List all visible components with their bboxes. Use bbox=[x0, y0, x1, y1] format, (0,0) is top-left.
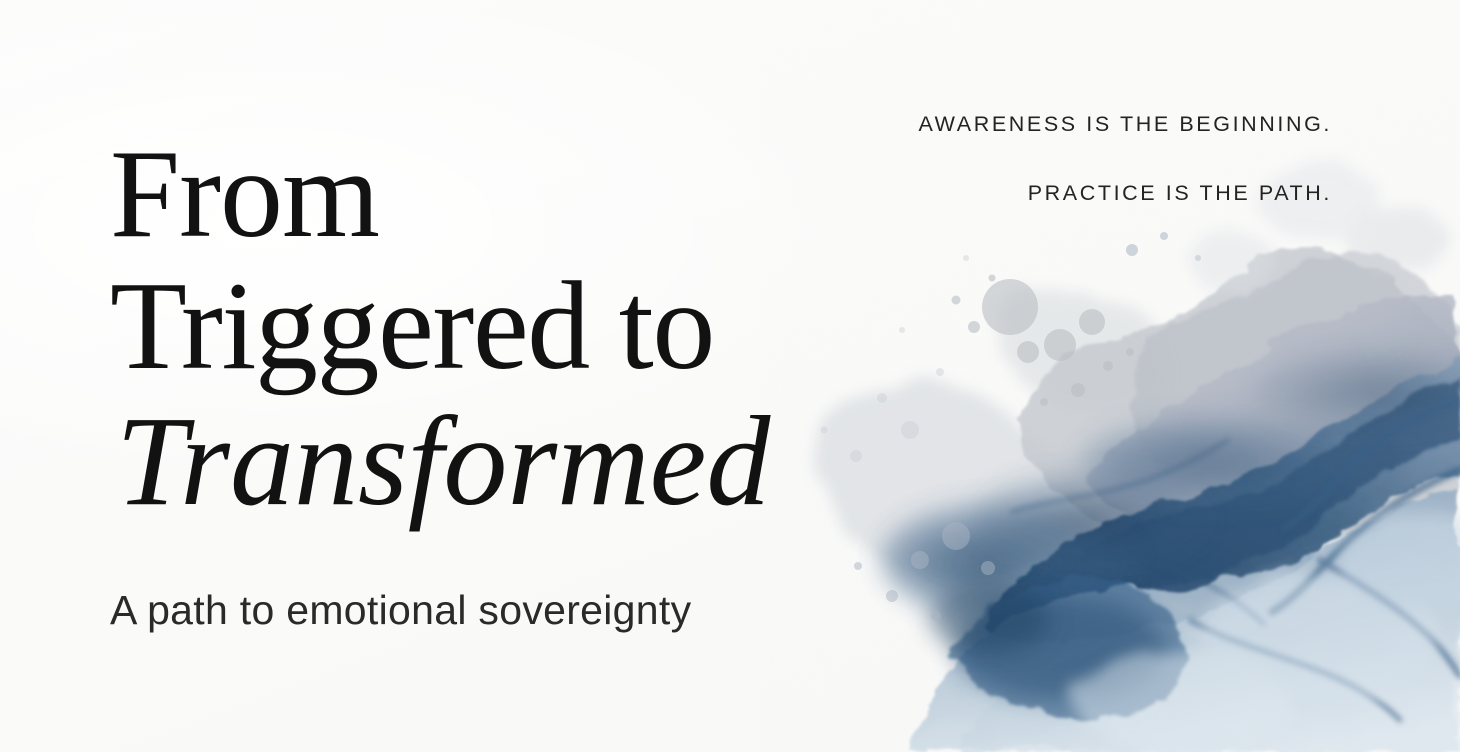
page-title: From Triggered to Transformed bbox=[110, 132, 910, 530]
headline-line-1: From bbox=[110, 132, 910, 258]
poster-canvas: AWARENESS IS THE BEGINNING. PRACTICE IS … bbox=[0, 0, 1460, 752]
subtitle: A path to emotional sovereignty bbox=[110, 586, 691, 635]
headline-line-2: Triggered to bbox=[110, 264, 910, 390]
headline-line-3-italic: Transformed bbox=[116, 392, 910, 530]
